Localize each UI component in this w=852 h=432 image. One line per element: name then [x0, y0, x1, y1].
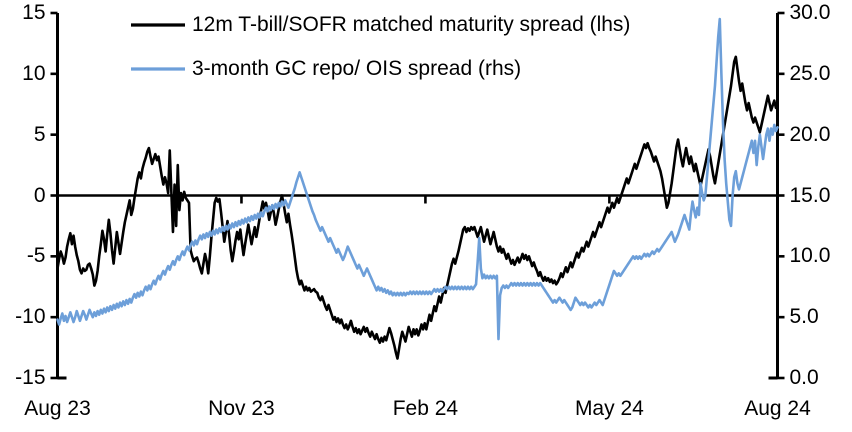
y-axis-right-tick-6: 0.0 — [790, 367, 819, 388]
x-axis-tick-1: Nov 23 — [171, 398, 311, 419]
x-axis-tick-3: May 24 — [539, 398, 679, 419]
y-axis-left-tick-2: 5 — [34, 124, 46, 145]
y-axis-right-tick-5: 5.0 — [790, 306, 819, 327]
y-axis-right-tick-3: 15.0 — [790, 185, 831, 206]
y-axis-right-tick-0: 30.0 — [790, 2, 831, 23]
y-axis-right-tick-1: 25.0 — [790, 63, 831, 84]
y-axis-left-tick-3: 0 — [34, 185, 46, 206]
legend-item-tbill-sofr-label: 12m T-bill/SOFR matched maturity spread … — [192, 14, 630, 35]
legend-item-gc-repo-ois-label: 3-month GC repo/ OIS spread (rhs) — [192, 58, 521, 79]
y-axis-left-tick-0: 15 — [22, 2, 45, 23]
y-axis-left-tick-5: -10 — [15, 306, 45, 327]
x-axis-tick-2: Feb 24 — [355, 398, 495, 419]
y-axis-right-tick-4: 10.0 — [790, 245, 831, 266]
y-axis-left-tick-1: 10 — [22, 63, 45, 84]
chart-root: 151050-5-10-1530.025.020.015.010.05.00.0… — [0, 0, 852, 432]
y-axis-left-tick-4: -5 — [27, 245, 46, 266]
x-axis-tick-0: Aug 23 — [0, 398, 128, 419]
series-line-tbill-sofr — [58, 57, 778, 359]
y-axis-left-tick-6: -15 — [15, 367, 45, 388]
x-axis-tick-4: Aug 24 — [708, 398, 848, 419]
y-axis-right-tick-2: 20.0 — [790, 124, 831, 145]
